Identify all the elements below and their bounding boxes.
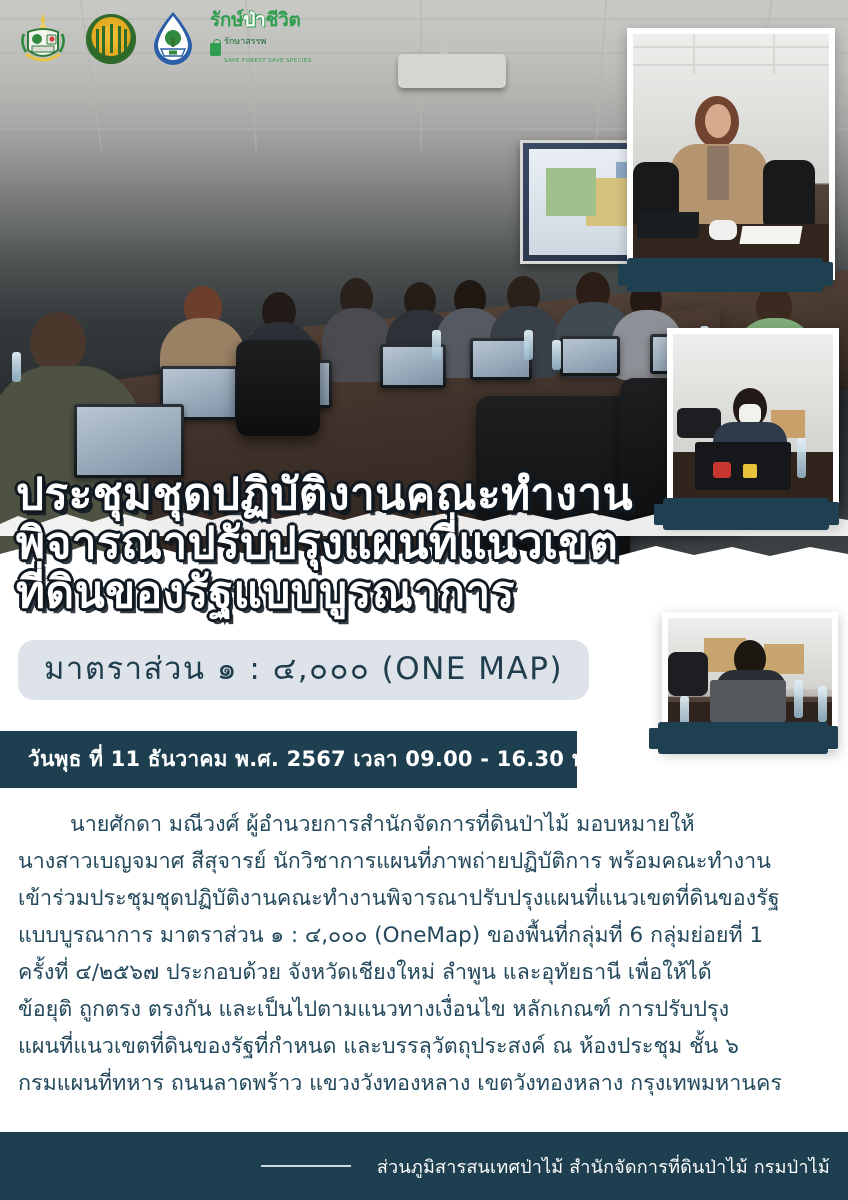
logo-bar: รักษ์ป่าชีวิต รักษาสรรพ SAVE FOREST SAVE…: [14, 8, 312, 70]
body-line-4: แบบบูรณาการ มาตราส่วน ๑ : ๔,๐๐๐ (OneMap)…: [18, 917, 830, 954]
forest-water-drop-emblem-icon: [150, 11, 196, 67]
body-line-2: นางสาวเบญจมาศ สีสุจารย์ นักวิชาการแผนที่…: [18, 843, 830, 880]
rak-pa-word-chiwit: ชีวิต: [265, 9, 300, 31]
water-bottle: [432, 330, 441, 360]
body-paragraph: นายศักดา มณีวงศ์ ผู้อำนวยการสำนักจัดการท…: [18, 806, 830, 1102]
laptop-foreground: [74, 404, 184, 478]
brush-stroke-1: [627, 258, 823, 292]
ceiling-projector: [398, 54, 506, 88]
footer-divider: [261, 1165, 351, 1167]
inset-photo-1: [627, 28, 835, 280]
laptop: [560, 336, 620, 376]
body-line-1: นายศักดา มณีวงศ์ ผู้อำนวยการสำนักจัดการท…: [18, 806, 830, 843]
footer-bar: ส่วนภูมิสารสนเทศป่าไม้ สำนักจัดการที่ดิน…: [0, 1132, 848, 1200]
poster-root: รักษ์ป่าชีวิต รักษาสรรพ SAVE FOREST SAVE…: [0, 0, 848, 1200]
water-bottle: [552, 340, 561, 370]
brush-stroke-2: [663, 498, 829, 530]
brush-stroke-3: [658, 722, 828, 754]
inset-photo-2: [667, 328, 839, 524]
water-bottle: [524, 330, 533, 360]
body-line-6: ข้อยุติ ถูกตรง ตรงกัน และเป็นไปตามแนวทาง…: [18, 991, 830, 1028]
footer-text: ส่วนภูมิสารสนเทศป่าไม้ สำนักจัดการที่ดิน…: [377, 1152, 848, 1181]
scale-badge: มาตราส่วน ๑ : ๔,๐๐๐ (ONE MAP): [18, 640, 589, 700]
date-time-bar: วันพุธ ที่ 11 ธันวาคม พ.ศ. 2567 เวลา 09.…: [0, 731, 577, 788]
rak-pa-word-pa: ป่า: [243, 9, 265, 31]
ministry-seal-icon: [86, 14, 136, 64]
water-bottle: [12, 352, 21, 382]
body-line-5: ครั้งที่ ๔/๒๕๖๗ ประกอบด้วย จังหวัดเชียงใ…: [18, 954, 830, 991]
rak-pa-subtitle: รักษาสรรพ: [224, 37, 266, 47]
rak-pa-logo-line2: รักษาสรรพ SAVE FOREST SAVE SPECIES: [210, 31, 312, 67]
body-line-7: แผนที่แนวเขตที่ดินของรัฐที่กำหนด และบรรล…: [18, 1028, 830, 1065]
rak-pa-word-rak: รักษ์: [210, 9, 243, 31]
body-line-3: เข้าร่วมประชุมชุดปฏิบัติงานคณะทำงานพิจาร…: [18, 880, 830, 917]
body-line-8: กรมแผนที่ทหาร ถนนลาดพร้าว แขวงวังทองหลาง…: [18, 1065, 830, 1102]
rak-pa-campaign-logo-icon: รักษ์ป่าชีวิต รักษาสรรพ SAVE FOREST SAVE…: [210, 16, 312, 62]
laptop: [470, 338, 532, 380]
rak-pa-english-tagline: SAVE FOREST SAVE SPECIES: [224, 58, 312, 64]
inset-photo-2-image: [673, 334, 833, 518]
title-line-3: ที่ดินของรัฐแบบบูรณาการ: [16, 568, 676, 617]
rak-pa-logo-line1: รักษ์ป่าชีวิต: [210, 11, 312, 30]
lock-icon: [210, 43, 221, 56]
office-chair: [236, 340, 320, 436]
title-line-1: ประชุมชุดปฏิบัติงานคณะทำงาน: [16, 470, 676, 519]
inset-photo-1-image: [633, 34, 829, 274]
poster-title: ประชุมชุดปฏิบัติงานคณะทำงาน พิจารณาปรับป…: [16, 470, 676, 617]
royal-forest-department-garuda-emblem-icon: [14, 10, 72, 68]
date-time-text: วันพุธ ที่ 11 ธันวาคม พ.ศ. 2567 เวลา 09.…: [0, 743, 594, 776]
title-line-2: พิจารณาปรับปรุงแผนที่แนวเขต: [16, 519, 676, 568]
